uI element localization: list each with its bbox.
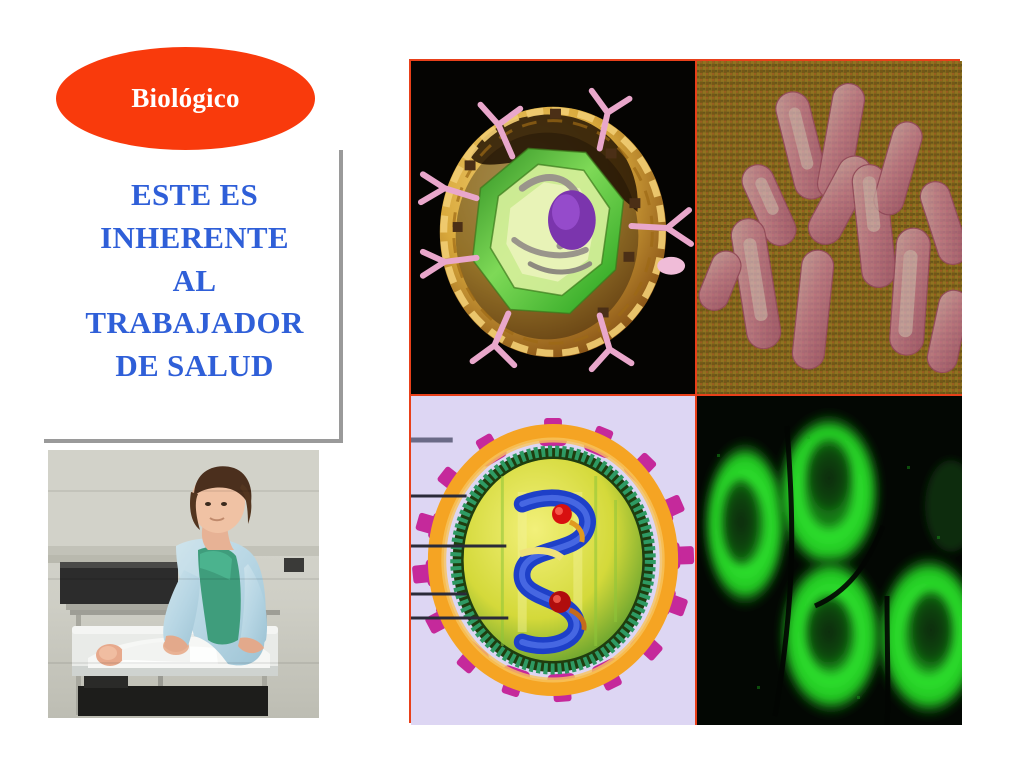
image-grid — [409, 59, 960, 723]
virus-cross-section-image — [411, 396, 697, 725]
bacteria-micrograph-graphic — [697, 61, 962, 394]
bacteria-micrograph-image — [697, 61, 962, 396]
body-text: ESTE ES INHERENTE AL TRABAJADOR DE SALUD — [42, 174, 347, 388]
fluorescence-micrograph-image — [697, 396, 962, 725]
health-worker-photo-graphic — [48, 450, 319, 718]
body-textbox: ESTE ES INHERENTE AL TRABAJADOR DE SALUD — [44, 150, 343, 443]
fluorescence-micrograph-graphic — [697, 396, 962, 725]
virus-3d-render-graphic — [411, 61, 695, 394]
virus-cross-section-graphic — [411, 396, 695, 725]
title-badge: Biológico — [56, 47, 315, 150]
title-badge-label: Biológico — [131, 85, 239, 112]
health-worker-photo — [48, 450, 319, 718]
virus-3d-render-image — [411, 61, 697, 396]
slide-canvas: Biológico ESTE ES INHERENTE AL TRABAJADO… — [0, 0, 1024, 768]
